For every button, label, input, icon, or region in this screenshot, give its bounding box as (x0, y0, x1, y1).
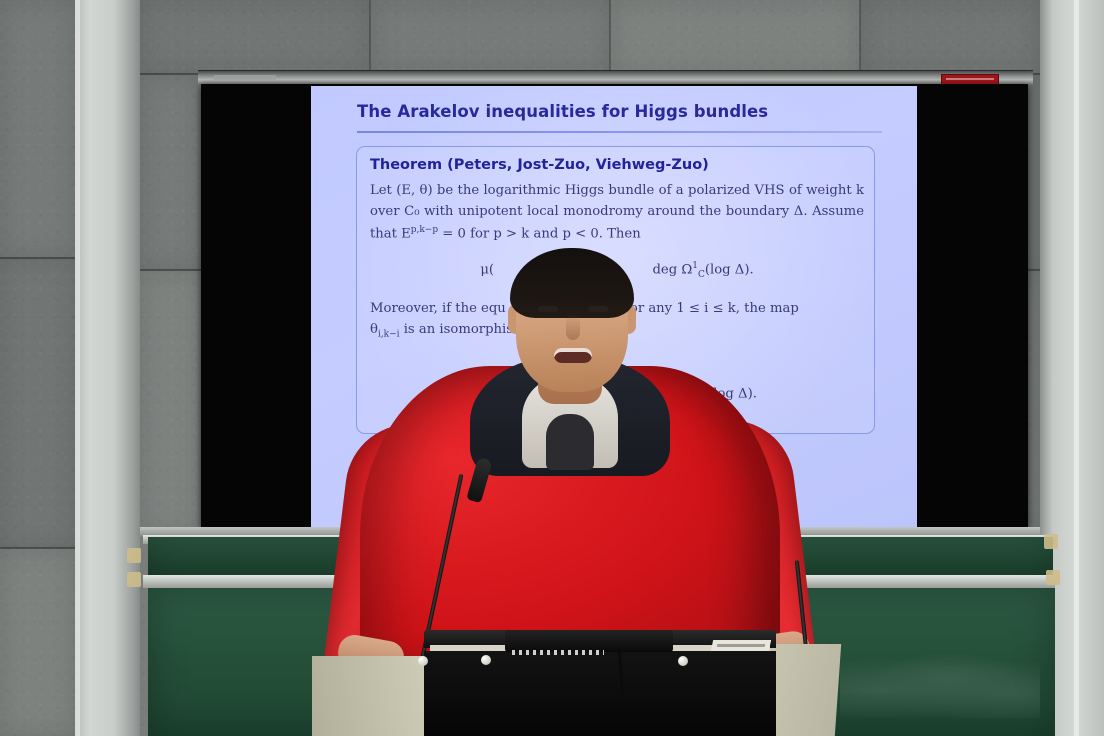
podium-knob-center[interactable] (481, 655, 491, 665)
wall-pillar-left (75, 0, 140, 736)
speaker-nose (566, 314, 580, 340)
slide-title-rule (357, 131, 882, 133)
board-clip-left-lower (127, 572, 141, 587)
board-clip-right (1044, 534, 1058, 549)
speaker-eye-right (588, 306, 608, 312)
rail-brand-plate (214, 75, 276, 80)
theorem-line-3-cont: = 0 for p > k and p < 0. Then (438, 226, 641, 241)
chalk-residue (840, 648, 1040, 718)
board-clip-right-lower (1046, 570, 1060, 585)
lecture-scene: The Arakelov inequalities for Higgs bund… (0, 0, 1104, 736)
speaker-brow-left (536, 296, 560, 300)
podium-monitor-vents (512, 650, 604, 655)
theorem-line-1: Let (E, θ) be the logarithmic Higgs bund… (370, 183, 785, 198)
slide-title: The Arakelov inequalities for Higgs bund… (357, 102, 887, 121)
podium-monitor[interactable] (505, 630, 673, 652)
podium-knob-right[interactable] (678, 656, 688, 666)
desk-name-card (711, 640, 771, 651)
pillar-edge (1074, 0, 1079, 736)
theorem-line-3-sup: p,k−p (411, 225, 438, 235)
board-clip-left (127, 548, 141, 563)
projection-screen-rail (198, 70, 1033, 85)
speaker-mouth (554, 348, 592, 363)
speaker (300, 248, 840, 678)
speaker-brow-right (586, 296, 610, 300)
speaker-inner-top (546, 414, 594, 470)
speaker-eye-left (538, 306, 558, 312)
podium-front-panel (424, 651, 776, 736)
speaker-hair (510, 248, 634, 318)
podium-knob-left[interactable] (418, 656, 428, 666)
pillar-edge (75, 0, 80, 736)
podium-left-panel (312, 656, 430, 736)
theorem-heading: Theorem (Peters, Jost-Zuo, Viehweg-Zuo) (370, 157, 709, 173)
